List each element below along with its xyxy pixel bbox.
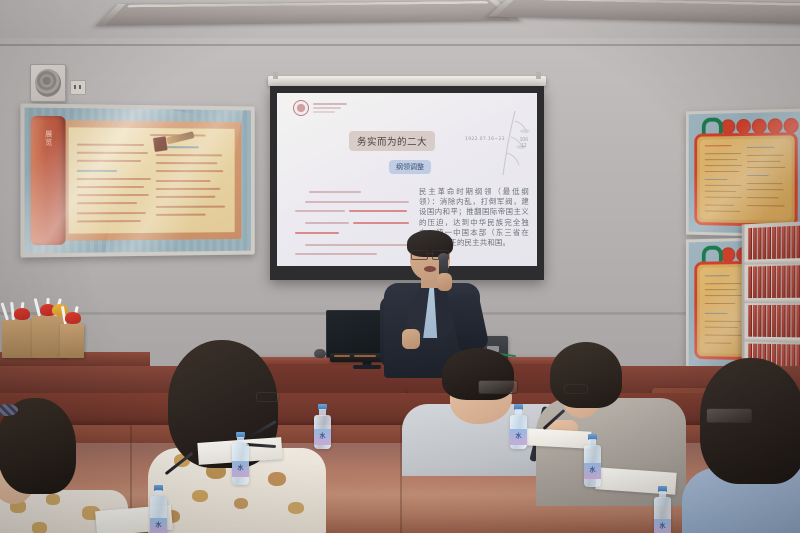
seminar-room-photo: 展览 (0, 0, 800, 533)
wall-speaker-icon (30, 64, 66, 102)
eyeglasses-icon (564, 384, 588, 394)
bottle-body: 水 (584, 445, 601, 487)
eyeglasses-icon (256, 392, 280, 402)
shelf-divider (745, 258, 800, 265)
scroll-caption: 展览 (44, 130, 53, 146)
projector-screen-roller[interactable] (268, 76, 546, 86)
attendee-hair (550, 342, 622, 408)
right-poster-top (686, 109, 800, 238)
bottle-body: 水 (150, 496, 167, 533)
wall-trim-upper (0, 44, 800, 46)
presenter-hand-holding-mic (437, 273, 452, 291)
gift-bag (60, 324, 84, 358)
scroll-graphic (62, 120, 242, 241)
bottle-label-text: 水 (584, 463, 601, 479)
bottle-label-text: 水 (654, 519, 671, 533)
bottle-label: 水 (510, 429, 527, 445)
bottle-label: 水 (232, 461, 249, 477)
bottle-body: 水 (654, 497, 671, 533)
eyeglasses-icon (478, 380, 518, 394)
bottle-label-text: 水 (510, 429, 527, 445)
monitor-base (353, 365, 381, 369)
slide-page-number: 106 12 (520, 137, 528, 149)
bottle-label: 水 (150, 518, 167, 533)
shelf-row (748, 265, 800, 298)
screen-bracket-left (273, 72, 278, 79)
poster-inner (700, 138, 792, 220)
seal-stamp-icon (153, 136, 168, 152)
slide-badge: 纲领调整 (389, 160, 431, 174)
left-display-board: 展览 (20, 103, 254, 257)
power-outlet-icon (70, 80, 86, 95)
bottle-label: 水 (584, 463, 601, 479)
seal-circle (293, 100, 309, 116)
eyeglasses-icon (706, 408, 752, 423)
shelf-row (748, 226, 800, 260)
attendee-blue-shirt (700, 358, 800, 533)
bottle-label: 水 (654, 519, 671, 533)
scroll-paper (69, 127, 235, 233)
shelf-divider (745, 337, 800, 343)
page-sub: 12 (521, 143, 527, 149)
scroll-roll: 展览 (31, 116, 66, 245)
slide-title: 务实而为的二大 (349, 131, 435, 151)
bottle-body: 水 (314, 415, 331, 449)
bottle-body: 水 (232, 443, 249, 485)
notebook (525, 428, 592, 448)
screen-bracket-right (536, 72, 541, 79)
bottle-label-text: 水 (314, 429, 331, 445)
presenter-mouth (424, 266, 436, 272)
gift-bags-group (2, 310, 82, 358)
shelf-divider (745, 298, 800, 303)
gift-bag (2, 320, 34, 358)
poster-card (694, 132, 797, 227)
presenter-gesturing-hand (402, 329, 420, 349)
speaker-grill (35, 69, 61, 97)
bottle-label-text: 水 (150, 518, 167, 533)
university-name-lines (313, 103, 347, 114)
bottle-label: 水 (314, 429, 331, 445)
university-seal-icon (293, 100, 347, 116)
bottle-label-text: 水 (232, 461, 249, 477)
bottle-body: 水 (510, 415, 527, 449)
light-tube (517, 0, 800, 7)
shelf-row (748, 305, 800, 338)
